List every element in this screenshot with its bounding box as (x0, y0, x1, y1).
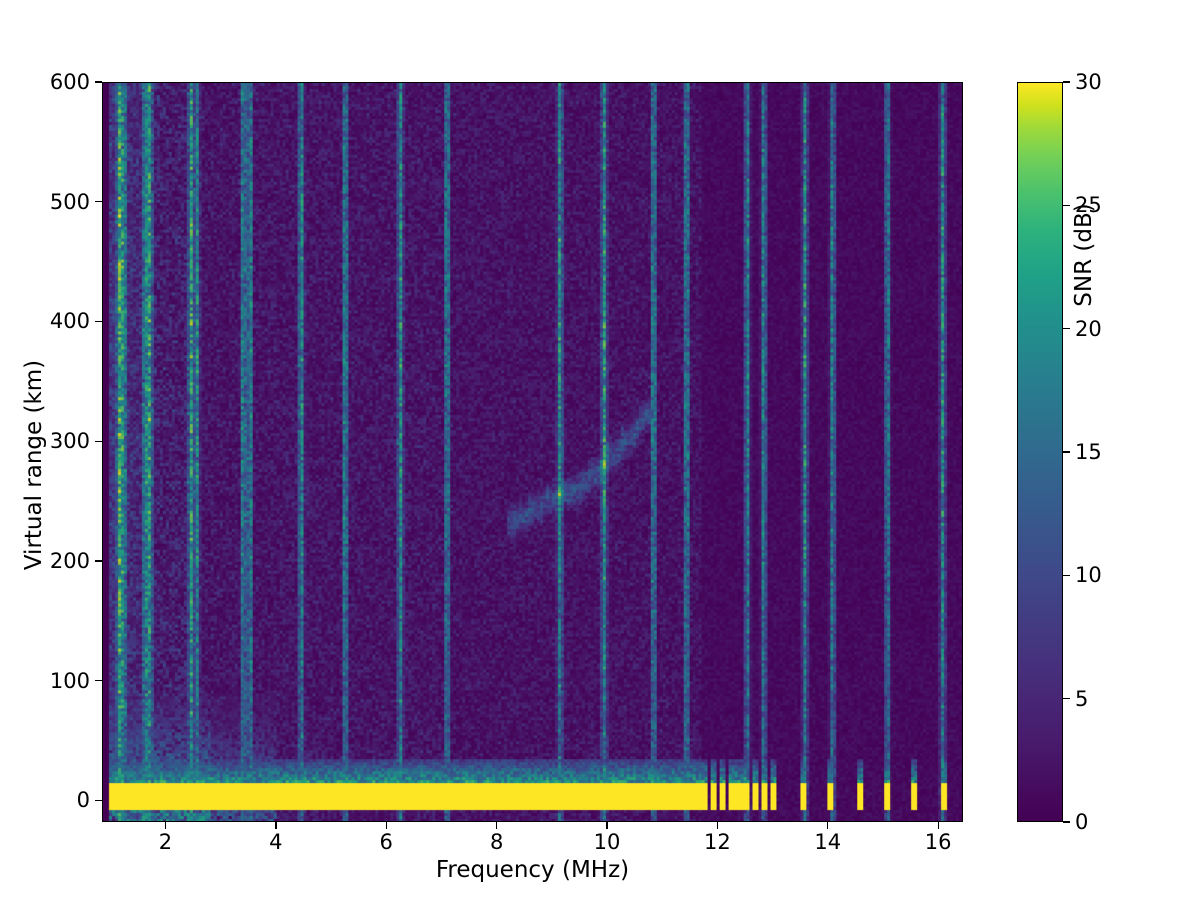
colorbar-tick-label: 5 (1075, 687, 1088, 711)
x-tick-label: 12 (704, 830, 731, 854)
colorbar-tick-mark (1063, 451, 1070, 452)
x-tick-label: 16 (925, 830, 952, 854)
colorbar-label: SNR (dB) (1071, 45, 1097, 465)
y-tick-mark (95, 321, 102, 322)
x-tick-mark (717, 822, 718, 829)
colorbar-tick-label: 10 (1075, 563, 1102, 587)
colorbar: 302520151050 (1017, 82, 1063, 822)
y-tick-label: 200 (50, 549, 90, 573)
y-tick-mark (95, 560, 102, 561)
x-tick-mark (606, 822, 607, 829)
colorbar-tick-label: 0 (1075, 810, 1088, 834)
y-axis-label: Virtual range (km) (21, 255, 47, 675)
ionogram-figure: IRF Uppsala SDR Ionosonde UP158 2025-11-… (0, 0, 1200, 900)
y-tick-mark (95, 81, 102, 82)
x-axis-label: Frequency (MHz) (102, 857, 963, 883)
y-tick-mark (95, 201, 102, 202)
x-tick-label: 10 (594, 830, 621, 854)
y-tick-mark (95, 680, 102, 681)
y-tick-label: 0 (77, 788, 90, 812)
x-tick-label: 2 (159, 830, 172, 854)
x-tick-mark (827, 822, 828, 829)
ionogram-axes (102, 82, 963, 822)
x-tick-label: 14 (814, 830, 841, 854)
x-tick-mark (386, 822, 387, 829)
colorbar-tick-mark (1063, 205, 1070, 206)
colorbar-tick-mark (1063, 698, 1070, 699)
colorbar-tick-mark (1063, 328, 1070, 329)
colorbar-tick-mark (1063, 575, 1070, 576)
y-tick-label: 400 (50, 309, 90, 333)
y-tick-mark (95, 800, 102, 801)
colorbar-tick-mark (1063, 821, 1070, 822)
x-tick-label: 8 (490, 830, 503, 854)
x-tick-label: 6 (380, 830, 393, 854)
x-tick-mark (165, 822, 166, 829)
x-tick-mark (275, 822, 276, 829)
colorbar-tick-mark (1063, 81, 1070, 82)
y-tick-label: 500 (50, 190, 90, 214)
y-tick-label: 300 (50, 429, 90, 453)
colorbar-gradient (1017, 82, 1063, 822)
ionogram-heatmap (103, 83, 962, 821)
y-tick-label: 100 (50, 669, 90, 693)
y-tick-label: 600 (50, 70, 90, 94)
x-tick-label: 4 (269, 830, 282, 854)
x-tick-mark (496, 822, 497, 829)
x-tick-mark (938, 822, 939, 829)
y-tick-mark (95, 441, 102, 442)
